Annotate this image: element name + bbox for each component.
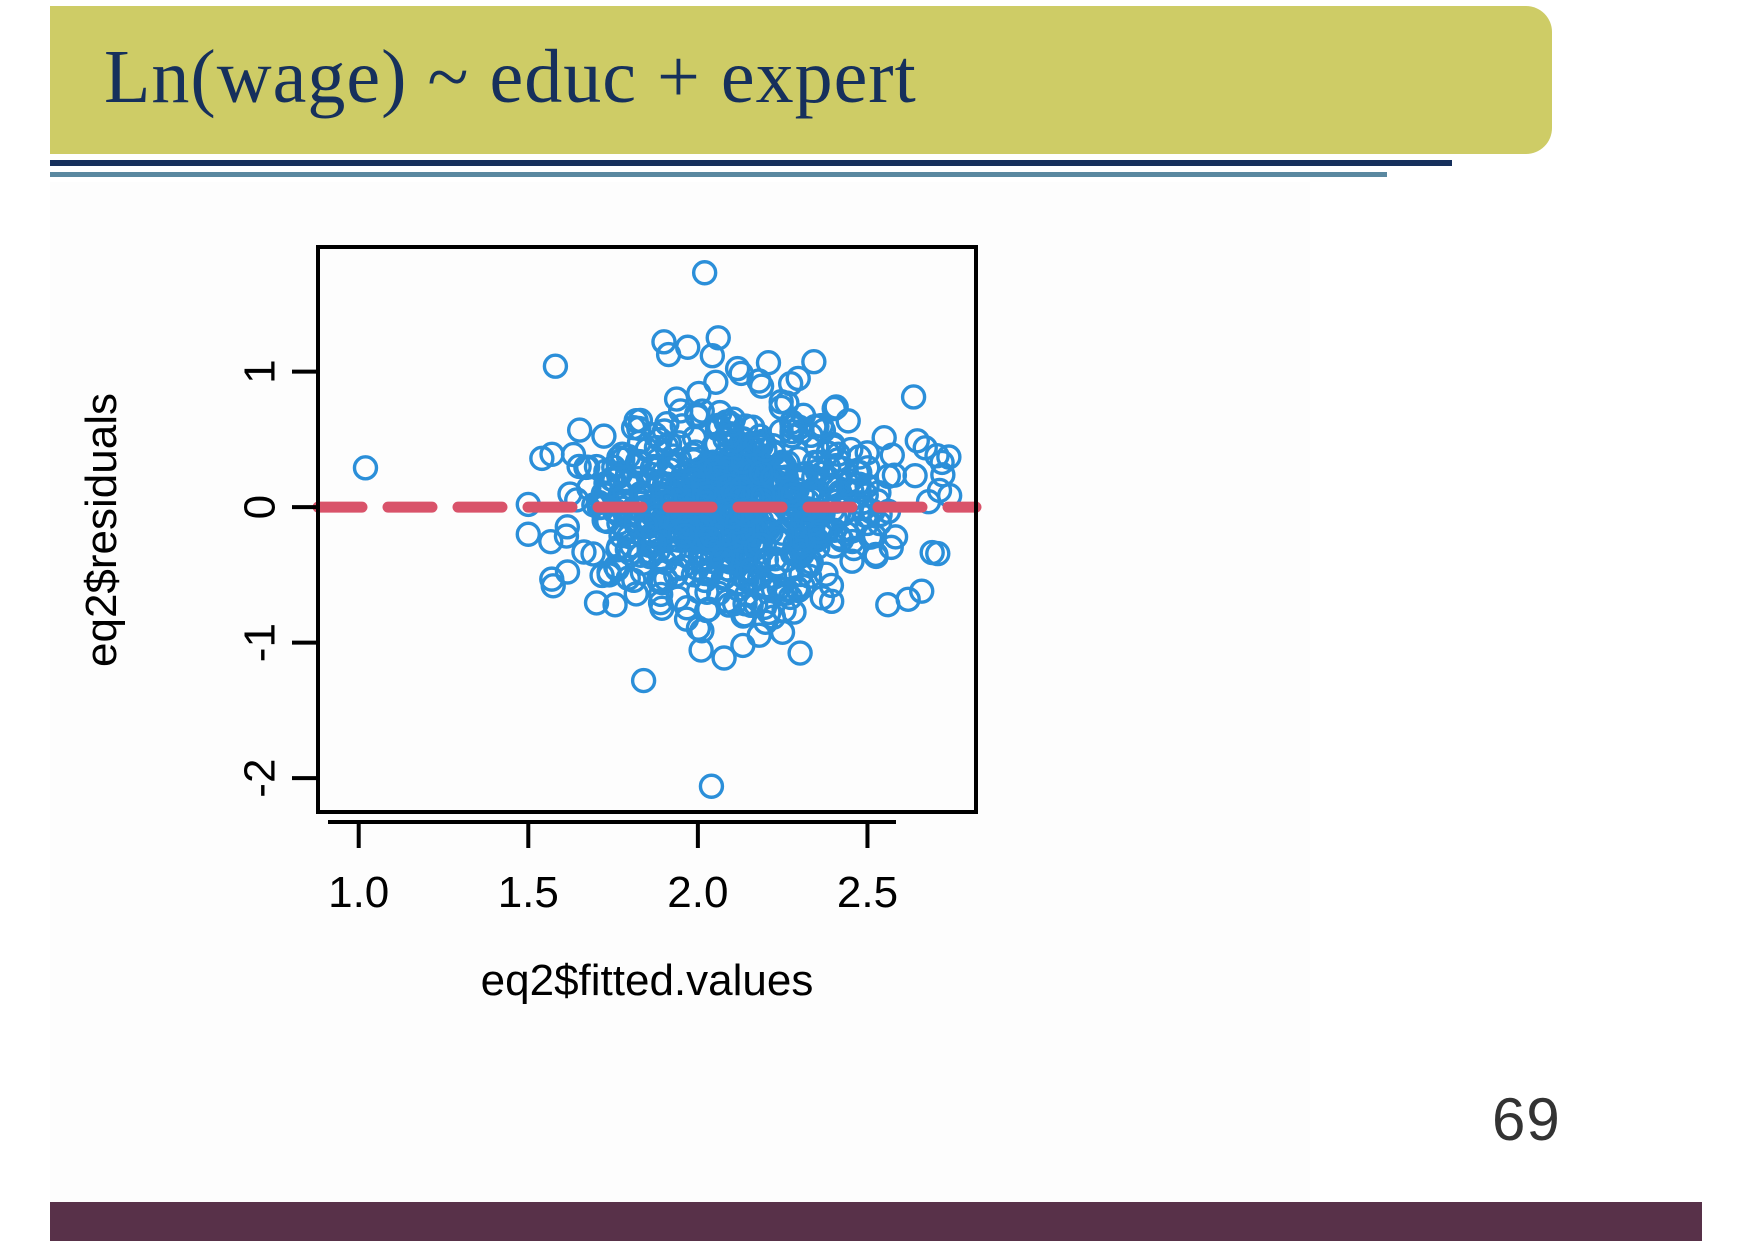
- footer-bar: [50, 1202, 1702, 1241]
- title-banner: Ln(wage) ~ educ + expert: [50, 6, 1552, 154]
- y-tick-label: 0: [236, 495, 285, 519]
- x-tick-label: 2.5: [837, 868, 898, 917]
- x-tick-label: 1.0: [328, 868, 389, 917]
- divider-steel: [50, 172, 1387, 177]
- x-tick-label: 2.0: [667, 868, 728, 917]
- y-tick-label: -1: [236, 623, 285, 662]
- y-axis-title: eq2$residuals: [77, 393, 126, 667]
- plot-svg: 1.01.52.02.510-1-2eq2$fitted.valueseq2$r…: [60, 200, 1060, 1100]
- residual-scatter-plot: 1.01.52.02.510-1-2eq2$fitted.valueseq2$r…: [60, 200, 1060, 1100]
- x-tick-label: 1.5: [498, 868, 559, 917]
- x-axis-title: eq2$fitted.values: [481, 956, 814, 1005]
- slide-canvas: Ln(wage) ~ educ + expert: [0, 0, 1754, 1241]
- y-tick-label: -2: [236, 759, 285, 798]
- y-tick-label: 1: [236, 359, 285, 383]
- divider-navy: [50, 160, 1452, 166]
- page-title: Ln(wage) ~ educ + expert: [104, 28, 917, 126]
- page-number: 69: [1492, 1085, 1561, 1154]
